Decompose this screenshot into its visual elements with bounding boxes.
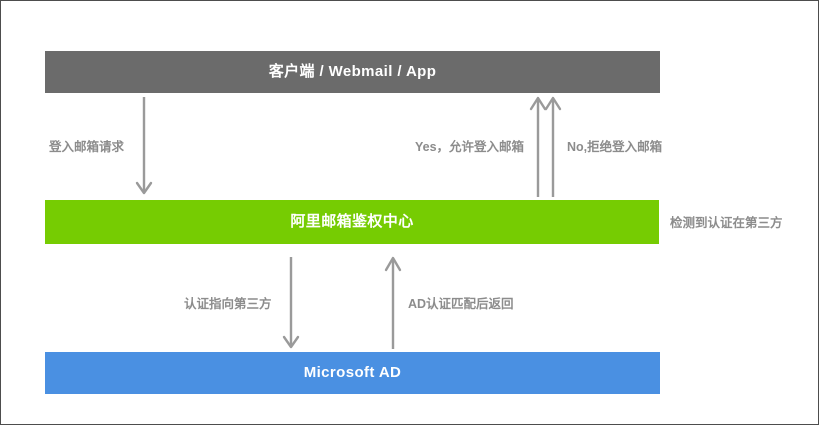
diagram-screenshot: 客户端 / Webmail / App 阿里邮箱鉴权中心 Microsoft A… — [0, 0, 819, 425]
node-client[interactable]: 客户端 / Webmail / App — [45, 51, 660, 93]
node-auth-center-label: 阿里邮箱鉴权中心 — [290, 213, 413, 231]
edge-label-to-third-party: 认证指向第三方 — [184, 297, 272, 312]
node-microsoft-ad-label: Microsoft AD — [304, 364, 402, 382]
diagram-canvas: 客户端 / Webmail / App 阿里邮箱鉴权中心 Microsoft A… — [1, 1, 818, 424]
node-microsoft-ad[interactable]: Microsoft AD — [45, 352, 660, 394]
arrow-no-deny — [546, 98, 560, 197]
arrow-yes-allow — [531, 98, 545, 197]
arrow-ad-return — [386, 258, 400, 349]
arrow-login-request — [137, 97, 151, 193]
edge-label-no-deny: No,拒绝登入邮箱 — [567, 140, 662, 155]
edge-label-ad-return: AD认证匹配后返回 — [408, 297, 514, 312]
arrow-to-third-party — [284, 257, 298, 347]
node-auth-center[interactable]: 阿里邮箱鉴权中心 — [45, 200, 659, 244]
edge-label-login-request: 登入邮箱请求 — [49, 140, 124, 155]
edge-label-yes-allow: Yes，允许登入邮箱 — [415, 140, 524, 155]
node-client-label: 客户端 / Webmail / App — [269, 63, 437, 81]
annotation-detect-third-party: 检测到认证在第三方 — [670, 216, 783, 231]
